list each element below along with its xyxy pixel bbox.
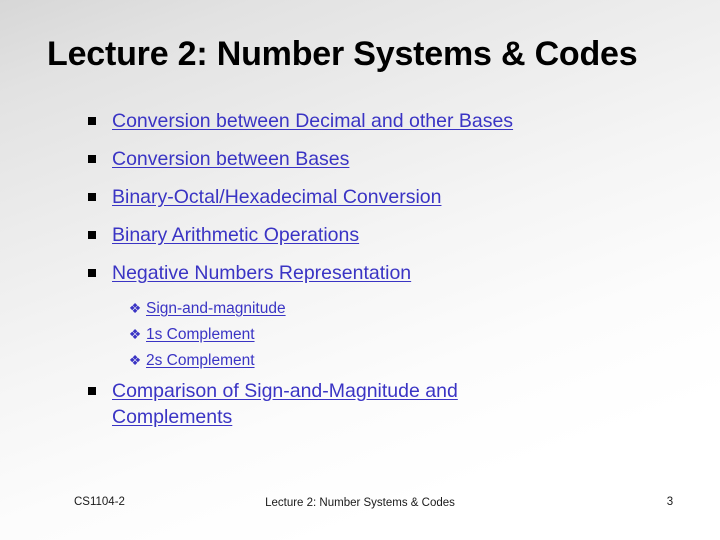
square-bullet-icon <box>88 117 96 125</box>
footer-page-number: 3 <box>640 496 700 508</box>
square-bullet-icon <box>88 231 96 239</box>
link-binary-arithmetic-operations[interactable]: Binary Arithmetic Operations <box>112 224 359 246</box>
list-item[interactable]: ❖ 1s Complement <box>70 323 660 346</box>
link-conversion-decimal-other-bases[interactable]: Conversion between Decimal and other Bas… <box>112 110 513 132</box>
link-negative-numbers-representation[interactable]: Negative Numbers Representation <box>112 262 411 284</box>
slide-title: Lecture 2: Number Systems & Codes <box>47 34 687 74</box>
diamond-bullet-icon: ❖ <box>128 349 142 372</box>
list-item[interactable]: ❖ Sign-and-magnitude <box>70 297 660 320</box>
footer-course-code: CS1104-2 <box>74 496 125 508</box>
footer-slide-title: Lecture 2: Number Systems & Codes <box>252 496 468 511</box>
diamond-bullet-icon: ❖ <box>128 297 142 320</box>
list-item[interactable]: Conversion between Bases <box>70 146 660 176</box>
slide-footer: CS1104-2 Lecture 2: Number Systems & Cod… <box>0 492 720 538</box>
link-1s-complement[interactable]: 1s Complement <box>146 326 255 343</box>
bullet-list: Conversion between Decimal and other Bas… <box>70 108 660 438</box>
list-item[interactable]: Comparison of Sign-and-Magnitude and Com… <box>70 378 660 430</box>
slide-canvas: Lecture 2: Number Systems & Codes Conver… <box>0 0 720 540</box>
square-bullet-icon <box>88 155 96 163</box>
list-item[interactable]: Binary-Octal/Hexadecimal Conversion <box>70 184 660 214</box>
link-2s-complement[interactable]: 2s Complement <box>146 352 255 369</box>
link-sign-and-magnitude[interactable]: Sign-and-magnitude <box>146 300 286 317</box>
list-item[interactable]: ❖ 2s Complement <box>70 349 660 372</box>
square-bullet-icon <box>88 387 96 395</box>
sub-bullet-list: ❖ Sign-and-magnitude ❖ 1s Complement ❖ 2… <box>70 297 660 372</box>
square-bullet-icon <box>88 269 96 277</box>
square-bullet-icon <box>88 193 96 201</box>
list-item[interactable]: Conversion between Decimal and other Bas… <box>70 108 660 138</box>
list-item[interactable]: Binary Arithmetic Operations <box>70 222 660 252</box>
link-comparison-sign-magnitude-complements[interactable]: Comparison of Sign-and-Magnitude and Com… <box>112 378 582 430</box>
list-item[interactable]: Negative Numbers Representation <box>70 260 660 290</box>
link-conversion-between-bases[interactable]: Conversion between Bases <box>112 148 349 170</box>
link-binary-octal-hexadecimal-conversion[interactable]: Binary-Octal/Hexadecimal Conversion <box>112 186 441 208</box>
diamond-bullet-icon: ❖ <box>128 323 142 346</box>
